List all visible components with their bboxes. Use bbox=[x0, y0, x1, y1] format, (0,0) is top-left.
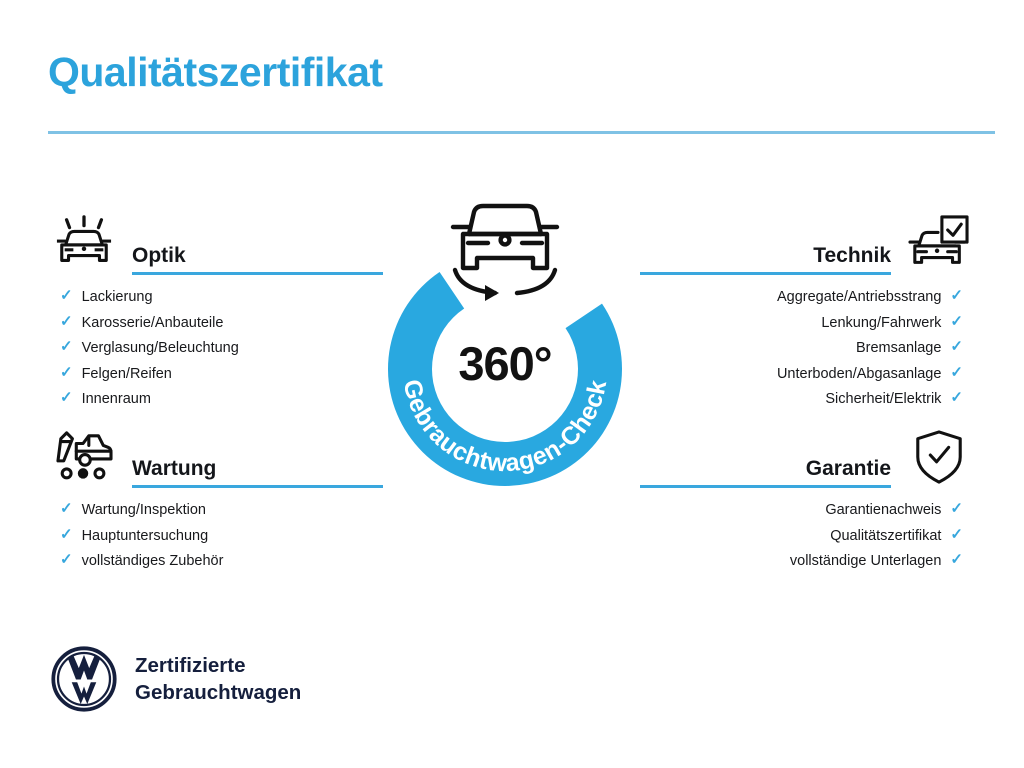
footer-line-2: Gebrauchtwagen bbox=[135, 679, 301, 706]
check-icon: ✓ bbox=[950, 552, 963, 567]
list-item-label: Felgen/Reifen bbox=[82, 367, 172, 382]
check-icon: ✓ bbox=[60, 339, 73, 354]
list-item-label: Lackierung bbox=[82, 290, 153, 305]
section-title-wartung: Wartung bbox=[120, 458, 383, 485]
list-item: ✓Hauptuntersuchung bbox=[60, 528, 383, 544]
list-item: ✓Aggregate/Antriebsstrang bbox=[640, 289, 963, 305]
car-service-pen-icon bbox=[48, 424, 120, 490]
section-rule-optik bbox=[132, 272, 383, 275]
check-icon: ✓ bbox=[950, 527, 963, 542]
list-item: ✓Sicherheit/Elektrik bbox=[640, 391, 963, 407]
360-check-badge: Gebrauchtwagen-Check 360° bbox=[377, 190, 633, 490]
header-divider bbox=[48, 131, 995, 134]
list-item-label: Wartung/Inspektion bbox=[82, 503, 206, 518]
list-item-label: vollständiges Zubehör bbox=[82, 554, 224, 569]
list-item: ✓Karosserie/Anbauteile bbox=[60, 315, 383, 331]
list-item: ✓Lackierung bbox=[60, 289, 383, 305]
vw-certified-logo: Zertifizierte Gebrauchtwagen bbox=[50, 645, 301, 713]
list-item: ✓Unterboden/Abgasanlage bbox=[640, 366, 963, 382]
check-icon: ✓ bbox=[60, 501, 73, 516]
list-item-label: Sicherheit/Elektrik bbox=[825, 392, 941, 407]
check-icon: ✓ bbox=[950, 501, 963, 516]
badge-center-label: 360° bbox=[377, 340, 633, 387]
list-item-label: Unterboden/Abgasanlage bbox=[777, 367, 941, 382]
section-rule-wartung bbox=[132, 485, 383, 488]
check-icon: ✓ bbox=[950, 365, 963, 380]
page-title: Qualitätszertifikat bbox=[48, 52, 383, 93]
list-optik: ✓Lackierung ✓Karosserie/Anbauteile ✓Verg… bbox=[48, 277, 383, 407]
list-item: ✓Verglasung/Beleuchtung bbox=[60, 340, 383, 356]
list-garantie: ✓Garantienachweis ✓Qualitätszertifikat ✓… bbox=[640, 490, 975, 569]
check-icon: ✓ bbox=[60, 527, 73, 542]
list-item-label: Karosserie/Anbauteile bbox=[82, 316, 224, 331]
list-item-label: Aggregate/Antriebsstrang bbox=[777, 290, 941, 305]
list-wartung: ✓Wartung/Inspektion ✓Hauptuntersuchung ✓… bbox=[48, 490, 383, 569]
footer-line-1: Zertifizierte bbox=[135, 652, 301, 679]
shield-check-icon bbox=[903, 424, 975, 490]
list-item-label: vollständige Unterlagen bbox=[790, 554, 942, 569]
list-item-label: Qualitätszertifikat bbox=[830, 529, 941, 544]
check-icon: ✓ bbox=[60, 552, 73, 567]
car-shine-icon bbox=[48, 211, 120, 277]
check-icon: ✓ bbox=[950, 288, 963, 303]
section-technik: Technik ✓Aggregate/Antriebsstrang ✓Lenku… bbox=[640, 205, 975, 417]
section-rule-garantie bbox=[640, 485, 891, 488]
section-garantie: Garantie ✓Garantienachweis ✓Qualitätszer… bbox=[640, 418, 975, 579]
check-icon: ✓ bbox=[950, 314, 963, 329]
list-item: ✓Wartung/Inspektion bbox=[60, 502, 383, 518]
car-rotate-icon bbox=[433, 190, 577, 302]
list-item: ✓Felgen/Reifen bbox=[60, 366, 383, 382]
check-icon: ✓ bbox=[60, 365, 73, 380]
check-icon: ✓ bbox=[950, 339, 963, 354]
check-icon: ✓ bbox=[60, 288, 73, 303]
footer-text: Zertifizierte Gebrauchtwagen bbox=[135, 652, 301, 706]
car-checkbox-icon bbox=[903, 211, 975, 277]
section-optik: Optik ✓Lackierung ✓Karosserie/Anbauteile… bbox=[48, 205, 383, 417]
check-icon: ✓ bbox=[60, 390, 73, 405]
section-title-optik: Optik bbox=[120, 245, 383, 272]
list-item-label: Verglasung/Beleuchtung bbox=[82, 341, 239, 356]
list-item-label: Garantienachweis bbox=[825, 503, 941, 518]
list-item: ✓Qualitätszertifikat bbox=[640, 528, 963, 544]
list-item: ✓Bremsanlage bbox=[640, 340, 963, 356]
list-item: ✓Garantienachweis bbox=[640, 502, 963, 518]
list-item-label: Innenraum bbox=[82, 392, 151, 407]
list-item: ✓vollständiges Zubehör bbox=[60, 553, 383, 569]
section-wartung: Wartung ✓Wartung/Inspektion ✓Hauptunters… bbox=[48, 418, 383, 579]
section-rule-technik bbox=[640, 272, 891, 275]
vw-logo bbox=[50, 645, 118, 713]
list-item-label: Hauptuntersuchung bbox=[82, 529, 209, 544]
list-item: ✓vollständige Unterlagen bbox=[640, 553, 963, 569]
section-title-technik: Technik bbox=[640, 245, 903, 272]
list-item-label: Lenkung/Fahrwerk bbox=[821, 316, 941, 331]
check-icon: ✓ bbox=[60, 314, 73, 329]
list-item-label: Bremsanlage bbox=[856, 341, 941, 356]
list-technik: ✓Aggregate/Antriebsstrang ✓Lenkung/Fahrw… bbox=[640, 277, 975, 407]
check-icon: ✓ bbox=[950, 390, 963, 405]
section-title-garantie: Garantie bbox=[640, 458, 903, 485]
list-item: ✓Innenraum bbox=[60, 391, 383, 407]
list-item: ✓Lenkung/Fahrwerk bbox=[640, 315, 963, 331]
